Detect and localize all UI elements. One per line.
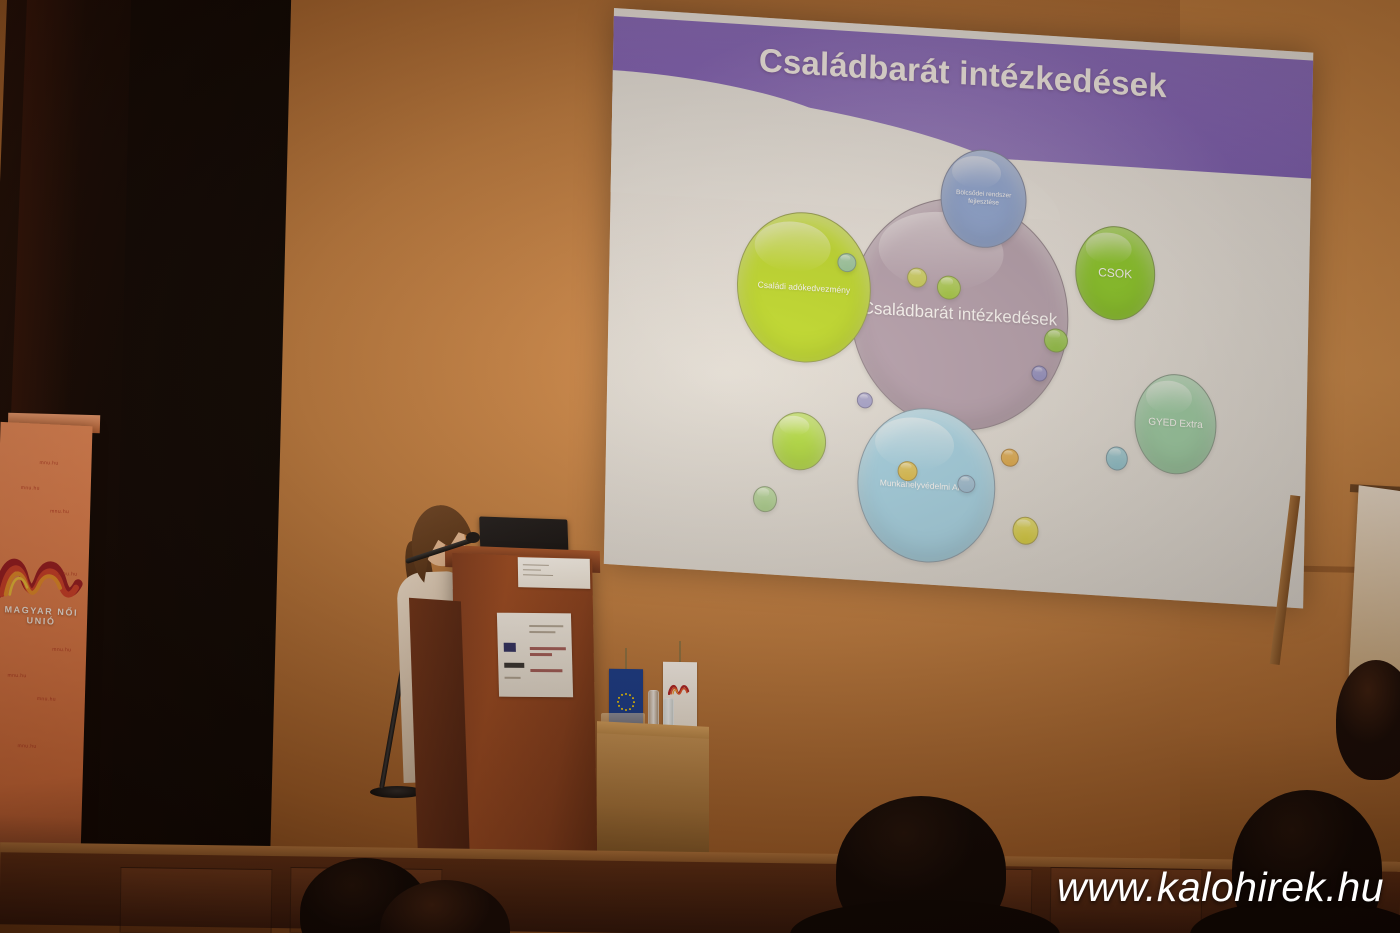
bubble-decor: [1031, 365, 1047, 382]
podium-project-poster: [497, 613, 573, 698]
mnu-wave-logo-small-icon: [668, 682, 692, 696]
bubble-label: Családbarát intézkedések: [856, 298, 1064, 331]
bubble-decor: [1106, 446, 1128, 471]
eu-star-icon: [618, 697, 620, 699]
rollup-banner: MAGYAR NŐI UNIÓ mnu.hu mnu.hu mnu.hu mnu…: [0, 422, 93, 896]
banner-url-tile: mnu.hu: [18, 743, 37, 750]
stage-curtain-inner: [109, 0, 292, 920]
site-watermark: www.kalohirek.hu: [1057, 864, 1384, 911]
microphone-head-icon: [466, 532, 480, 543]
bubble-decor: [957, 474, 975, 493]
bubble-csok: CSOK: [1074, 224, 1156, 323]
bubble-csal-di-ad-kedvezm-ny: Családi adókedvezmény: [736, 208, 873, 367]
podium-name-card: [518, 557, 591, 589]
banner-url-tile: mnu.hu: [7, 673, 26, 680]
eu-star-icon: [633, 701, 635, 703]
eu-star-icon: [621, 708, 623, 710]
bubble-label: Családi adókedvezmény: [752, 279, 857, 296]
banner-url-tile: mnu.hu: [52, 647, 71, 654]
eu-star-icon: [625, 709, 627, 711]
eu-star-icon: [618, 705, 620, 707]
bubble-gyed-extra: GYED Extra: [1134, 372, 1218, 477]
banner-url-tile: mnu.hu: [39, 460, 58, 467]
eu-star-icon: [625, 693, 627, 695]
speaker-podium: [452, 553, 598, 889]
bubble-decor: [907, 267, 927, 288]
banner-url-tile: mnu.hu: [58, 571, 77, 578]
photograph-scene: Családbarát intézkedések Családbarát int…: [0, 0, 1400, 933]
bubble-decor: [837, 252, 856, 272]
bubble-decor: [753, 485, 777, 513]
eu-star-icon: [617, 701, 619, 703]
eu-star-icon: [632, 705, 634, 707]
bubble-decor: [772, 411, 827, 472]
bubble-decor: [1012, 516, 1038, 546]
eu-star-icon: [629, 708, 631, 710]
bubble-label: GYED Extra: [1142, 416, 1209, 432]
eu-star-icon: [621, 694, 623, 696]
banner-organization-name: MAGYAR NŐI UNIÓ: [0, 604, 91, 629]
head-table-cloth: [597, 733, 709, 869]
banner-url-tile: mnu.hu: [21, 485, 40, 492]
eu-star-icon: [632, 697, 634, 699]
bubble-decor: [857, 392, 873, 409]
projection-screen: Családbarát intézkedések Családbarát int…: [604, 8, 1313, 609]
bubble-decor: [1001, 448, 1019, 467]
banner-url-tile: mnu.hu: [37, 696, 56, 703]
bubble-label: CSOK: [1092, 265, 1138, 282]
bubble-label: Bölcsődei rendszer fejlesztése: [941, 188, 1025, 209]
eu-star-icon: [629, 694, 631, 696]
water-bottle: [648, 690, 659, 726]
presentation-slide: Családbarát intézkedések Családbarát int…: [604, 8, 1313, 609]
stage-panel-seam: [120, 867, 273, 933]
banner-url-tile: mnu.hu: [50, 509, 69, 516]
